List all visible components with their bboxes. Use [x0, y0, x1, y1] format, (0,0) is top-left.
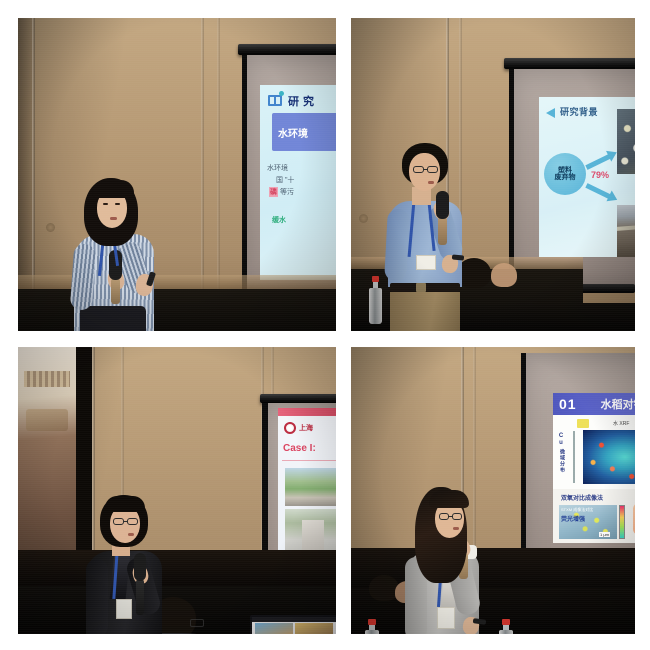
name-badge [116, 599, 132, 619]
laptop-pane-image [255, 623, 293, 634]
plastic-waste-circle: 塑料废弃物 [544, 153, 586, 195]
stxm-callout-box: 扫描透射X射线显微镜(STXM) [633, 503, 635, 535]
photo-tree-road [285, 468, 336, 506]
wall-outlet [359, 214, 368, 223]
chart-side-label: Cu [558, 433, 564, 447]
presenter-2 [386, 143, 506, 331]
bottle-body [369, 288, 382, 324]
presenter-3 [86, 495, 196, 634]
belt-buckle [416, 283, 426, 292]
name-badge [437, 607, 455, 629]
slide-top-accent-bar [278, 408, 336, 416]
laptop-browser-pane [255, 623, 293, 634]
wall-outlet [46, 223, 55, 232]
slide-header-band: 01 水稻对铜 [553, 393, 635, 415]
mouth [110, 217, 117, 220]
hair-fringe [105, 496, 145, 512]
microphone-handle [136, 579, 144, 615]
slide-research-water: 研 究 水环境 水环境 国 "十 磷 等污 缓水 [260, 85, 336, 280]
screen-edge [509, 69, 514, 287]
chart-axis-y [573, 431, 575, 483]
divider [282, 460, 336, 461]
circle-label: 塑料废弃物 [555, 167, 576, 182]
laptop [250, 615, 336, 634]
slide-rice-copper: 01 水稻对铜 水 XRF Cu 微域分布 双氧对比成像法 STXM 成像法对比… [553, 393, 635, 543]
laptop-browser-pane [295, 623, 333, 634]
microphone-head [436, 191, 449, 219]
chart-side-label-cn: 微域分布 [559, 449, 566, 473]
panel-bottom-left: 上海 Case I: Endocr environ Indirec enviro… [18, 347, 336, 634]
glasses-lens-left [113, 518, 124, 525]
glasses-lens-right [427, 166, 438, 173]
chart-tag [577, 419, 589, 428]
eye-left [103, 203, 108, 205]
slide-bullet-tail: 等污 [280, 187, 294, 197]
name-badge [416, 255, 436, 270]
presenter-1 [70, 178, 180, 331]
panel-bottom-right: 01 水稻对铜 水 XRF Cu 微域分布 双氧对比成像法 STXM 成像法对比… [351, 347, 635, 634]
screen-roller-bar [504, 58, 635, 69]
screen-roller-bar [238, 44, 336, 55]
cu-distribution-heatmap [583, 430, 635, 484]
photo-collage: 研 究 水环境 水环境 国 "十 磷 等污 缓水 [0, 0, 650, 650]
slide-bullet-highlight: 磷 [269, 187, 278, 197]
water-bottle [369, 276, 382, 324]
slide-header-title: 水稻对铜 [601, 396, 635, 412]
glasses-bridge [124, 521, 127, 522]
laptop-screen [252, 617, 336, 634]
panel-top-left: 研 究 水环境 水环境 国 "十 磷 等污 缓水 [18, 18, 336, 331]
percent-label: 79% [591, 170, 609, 180]
scale-bar-label: 1 μm [599, 532, 610, 537]
photo-plastic-waste [617, 109, 635, 174]
hair-fringe [429, 490, 469, 508]
arrow-up [585, 153, 612, 170]
figure-caption: 双氧对比成像法 [561, 493, 603, 502]
arm-left [70, 243, 97, 310]
slide-header-title: 研究背景 [560, 105, 598, 118]
mouth [128, 533, 134, 536]
case-title: Case I: [283, 443, 316, 454]
lower-garment [80, 306, 146, 331]
mouth [453, 527, 459, 530]
wall-molding [24, 371, 70, 387]
presenter-4 [403, 487, 523, 634]
slide-bullet-2: 缓水 [272, 215, 286, 225]
university-seal-logo [284, 422, 296, 434]
arrow-left-icon [546, 108, 555, 118]
screen-roller-bar [260, 394, 336, 403]
slide-section-number: 01 [559, 396, 577, 412]
laptop-pane-image [295, 623, 333, 634]
color-scale-bar [619, 505, 625, 539]
slide-bullet-1-suffix: 国 "十 [276, 175, 294, 185]
wall-ornament [26, 409, 68, 431]
trousers [390, 292, 460, 331]
book-icon-dot [279, 91, 284, 96]
slide-header-title: 研 究 [288, 93, 315, 109]
mouth [428, 181, 434, 184]
slide-research-background: 研究背景 塑料废弃物 79% [539, 97, 635, 257]
arm-left [384, 208, 410, 281]
water-bottle [365, 619, 379, 634]
book-icon [268, 95, 282, 106]
slide-bullet-1: 水环境 [267, 163, 288, 173]
arm-left [86, 559, 108, 634]
chart-caption: 水 XRF [613, 420, 629, 427]
microphone-handle [111, 278, 120, 304]
arrow-down [585, 183, 612, 200]
glasses-lens-left [413, 166, 424, 173]
glasses-bridge [449, 516, 452, 517]
glasses-lens-left [439, 513, 449, 520]
microphone-handle [438, 217, 447, 245]
microphone-head [134, 553, 146, 581]
eye-right [115, 203, 120, 205]
slide-banner-title: 水环境 [278, 125, 308, 140]
panel-top-right: 研究背景 塑料废弃物 79% [351, 18, 635, 331]
glasses-lens-right [127, 518, 138, 525]
photo-landfill [617, 205, 635, 257]
micro-sublabel: STXM 成像法对比 [561, 507, 593, 513]
logo-text: 上海 [299, 423, 313, 433]
bottle-body [365, 630, 379, 634]
slide-chart-area: 水 XRF Cu 微域分布 [553, 415, 635, 489]
glasses-bridge [424, 169, 427, 170]
micro-label: 荧光增强 [561, 514, 585, 523]
glasses-lens-right [452, 513, 462, 520]
hair-fringe [92, 180, 134, 198]
